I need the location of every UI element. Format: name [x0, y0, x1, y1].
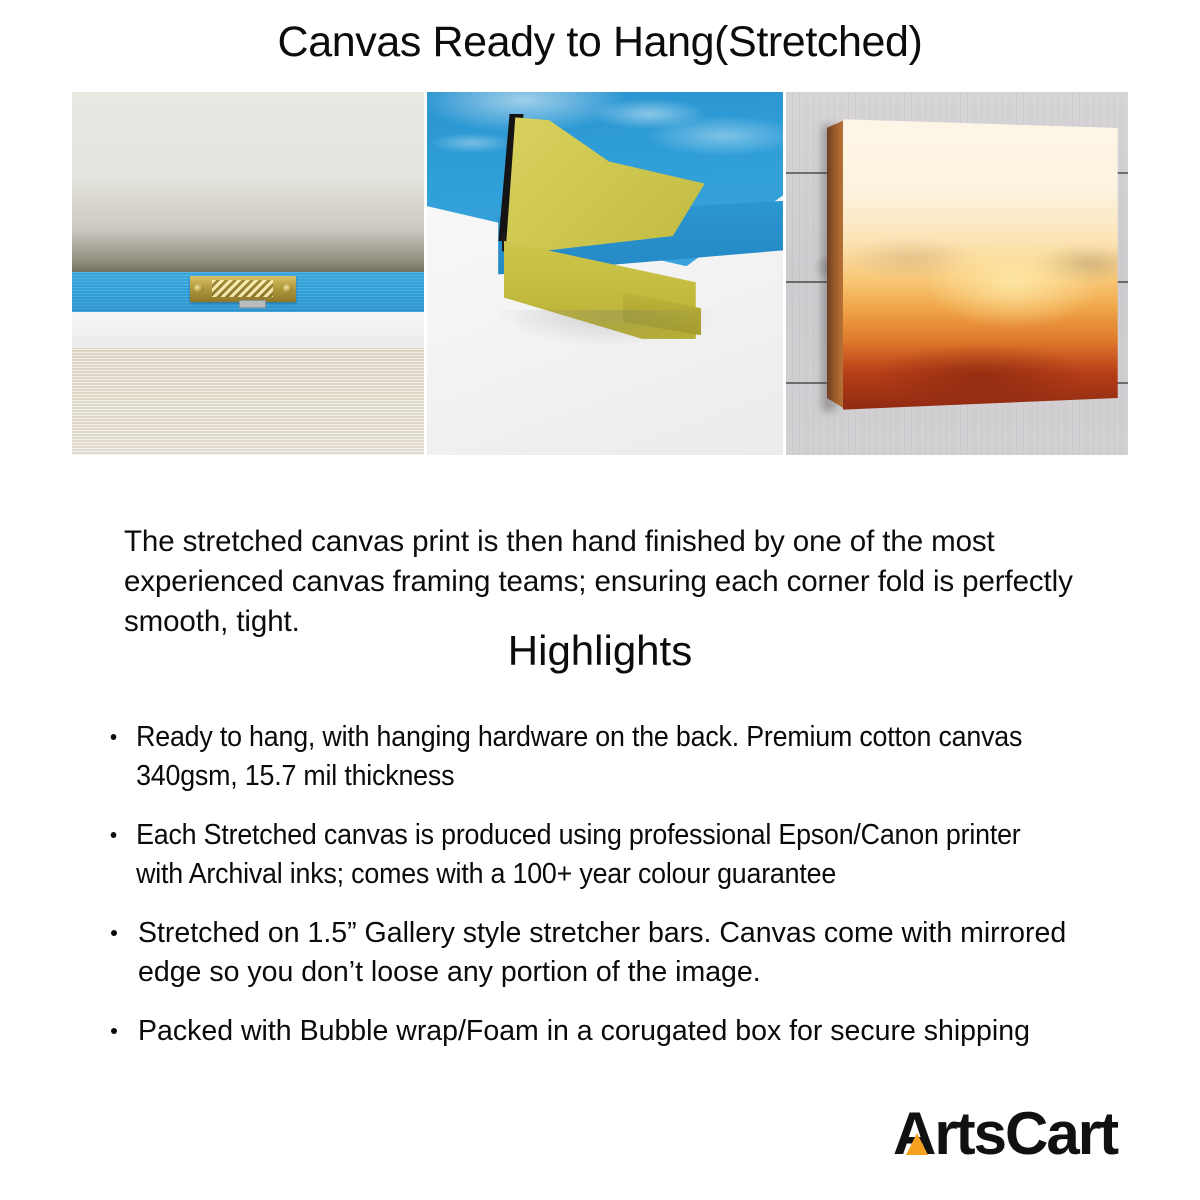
lead-paragraph: The stretched canvas print is then hand …	[124, 522, 1074, 642]
hanger-metal-tab	[239, 300, 266, 308]
list-item-label: Ready to hang, with hanging hardware on …	[136, 721, 1022, 792]
list-item-label: Stretched on 1.5” Gallery style stretche…	[138, 917, 1066, 988]
photo3-sunset-landscape-print	[843, 119, 1118, 409]
list-item: Packed with Bubble wrap/Foam in a coruga…	[106, 1012, 1116, 1051]
photo1-white-gap	[72, 312, 424, 348]
orange-triangle-icon	[906, 1133, 928, 1155]
bullet-dot-icon	[111, 930, 117, 936]
list-item: Each Stretched canvas is produced using …	[106, 816, 1055, 894]
photo2-drop-shadow	[498, 310, 719, 346]
hanger-screw-left	[194, 284, 203, 293]
bullet-dot-icon	[111, 1028, 117, 1034]
canvas-back-hanger-photo	[72, 92, 424, 455]
artscart-logo: ArtsCart	[893, 1101, 1117, 1167]
product-image-strip	[72, 92, 1128, 455]
bullet-dot-icon	[111, 734, 117, 740]
list-item: Ready to hang, with hanging hardware on …	[106, 718, 1055, 796]
highlights-list: Ready to hang, with hanging hardware on …	[106, 718, 1116, 1071]
photo3-stretched-canvas	[827, 119, 1118, 409]
list-item-label: Each Stretched canvas is produced using …	[136, 819, 1020, 890]
canvas-on-wall-photo	[786, 92, 1128, 455]
sawtooth-hanger-icon	[190, 276, 296, 302]
canvas-corner-fold-photo	[427, 92, 783, 455]
list-item: Stretched on 1.5” Gallery style stretche…	[106, 914, 1116, 992]
hanger-teeth	[212, 280, 273, 297]
hanger-screw-right	[283, 284, 292, 293]
page-title: Canvas Ready to Hang(Stretched)	[0, 16, 1200, 68]
photo1-cotton-canvas	[72, 348, 424, 455]
highlights-heading: Highlights	[0, 626, 1200, 676]
list-item-label: Packed with Bubble wrap/Foam in a coruga…	[138, 1015, 1030, 1047]
bullet-dot-icon	[111, 832, 117, 838]
